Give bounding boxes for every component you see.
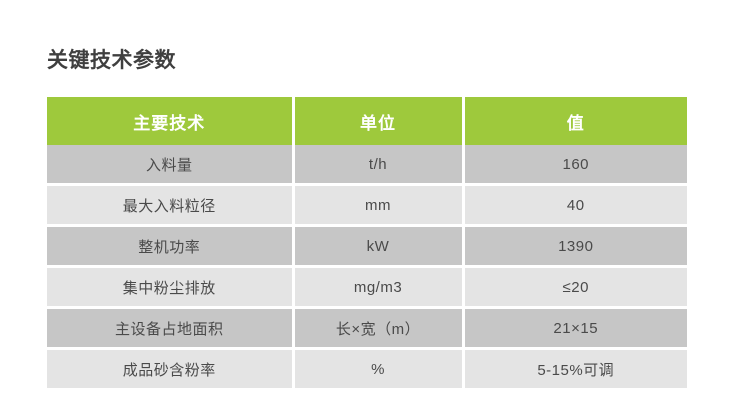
cell-unit: kW [293, 226, 463, 267]
table-header: 主要技术 单位 值 [47, 97, 687, 145]
table-row: 主设备占地面积 长×宽（m） 21×15 [47, 308, 687, 349]
page-root: 关键技术参数 主要技术 单位 值 入料量 t/h 160 [0, 0, 734, 411]
cell-value: 21×15 [463, 308, 687, 349]
cell-unit: % [293, 349, 463, 389]
page-title: 关键技术参数 [47, 44, 176, 74]
table-header-row: 主要技术 单位 值 [47, 97, 687, 145]
column-header-unit: 单位 [293, 97, 463, 145]
cell-technology: 入料量 [47, 145, 293, 185]
cell-value: 40 [463, 185, 687, 226]
cell-value: ≤20 [463, 267, 687, 308]
cell-technology: 最大入料粒径 [47, 185, 293, 226]
cell-technology: 整机功率 [47, 226, 293, 267]
table-row: 最大入料粒径 mm 40 [47, 185, 687, 226]
cell-value: 5-15%可调 [463, 349, 687, 389]
cell-technology: 集中粉尘排放 [47, 267, 293, 308]
parameters-table-wrapper: 主要技术 单位 值 入料量 t/h 160 最大入料粒径 mm 40 整机功率 [47, 97, 687, 388]
cell-unit: mm [293, 185, 463, 226]
cell-value: 1390 [463, 226, 687, 267]
cell-value: 160 [463, 145, 687, 185]
cell-technology: 成品砂含粉率 [47, 349, 293, 389]
cell-technology: 主设备占地面积 [47, 308, 293, 349]
table-row: 成品砂含粉率 % 5-15%可调 [47, 349, 687, 389]
cell-unit: 长×宽（m） [293, 308, 463, 349]
table-row: 入料量 t/h 160 [47, 145, 687, 185]
cell-unit: t/h [293, 145, 463, 185]
table-row: 集中粉尘排放 mg/m3 ≤20 [47, 267, 687, 308]
table-row: 整机功率 kW 1390 [47, 226, 687, 267]
cell-unit: mg/m3 [293, 267, 463, 308]
table-body: 入料量 t/h 160 最大入料粒径 mm 40 整机功率 kW 1390 集中… [47, 145, 687, 388]
column-header-value: 值 [463, 97, 687, 145]
column-header-technology: 主要技术 [47, 97, 293, 145]
parameters-table: 主要技术 单位 值 入料量 t/h 160 最大入料粒径 mm 40 整机功率 [47, 97, 687, 388]
